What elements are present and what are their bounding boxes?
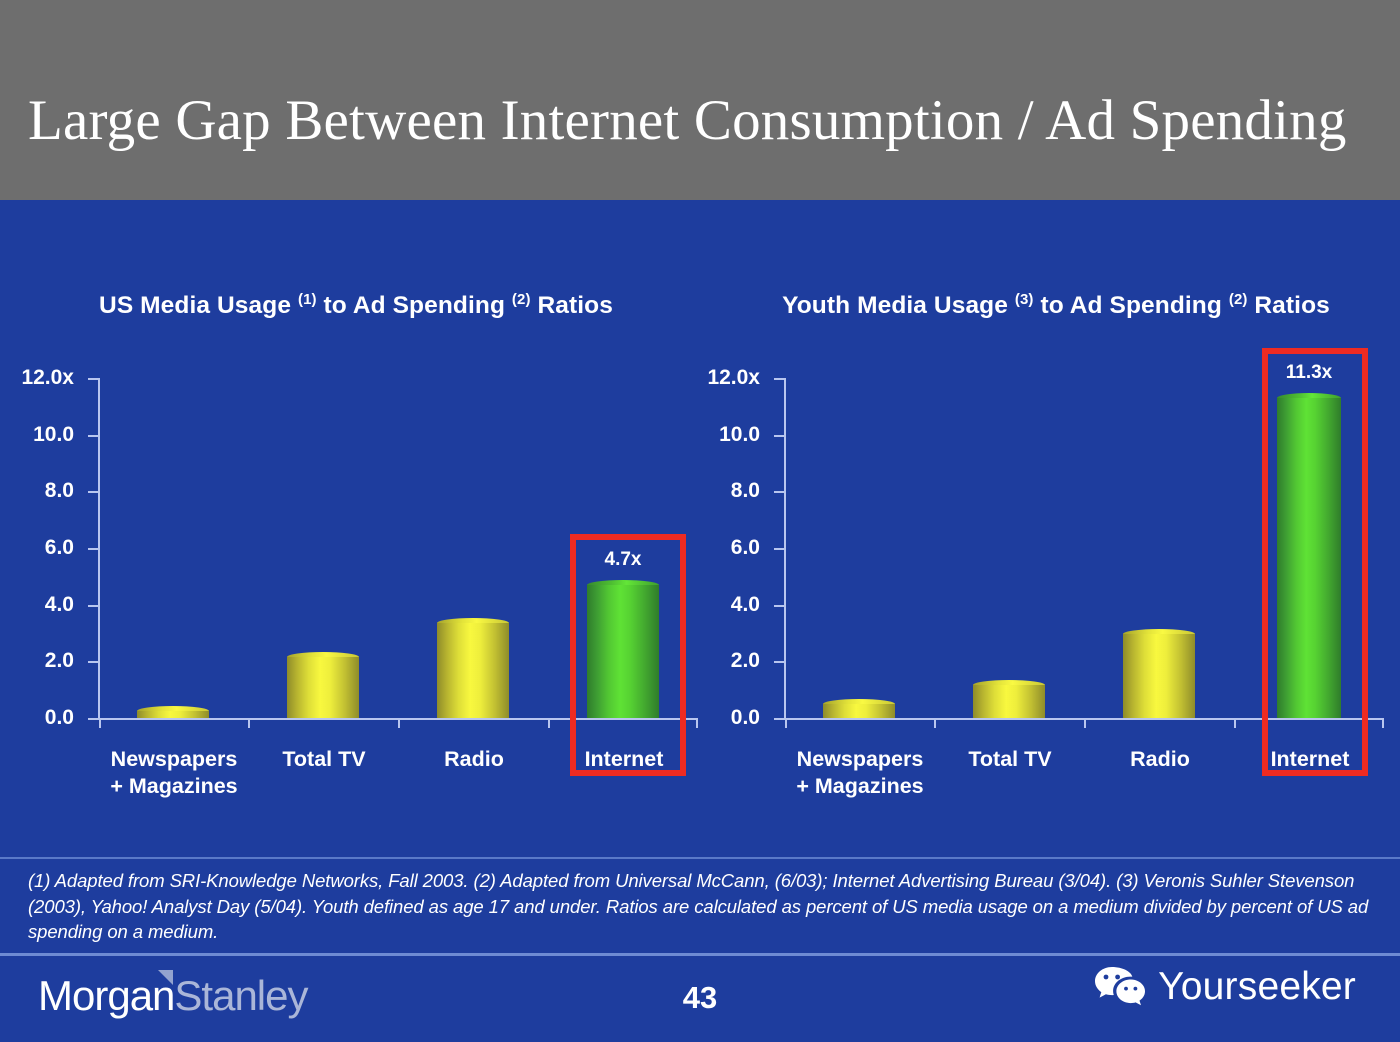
yourseeker-watermark: Yourseeker: [1092, 964, 1356, 1010]
x-axis-category-total-tv: Total TV: [968, 746, 1051, 773]
y-axis-tick: 12.0x: [774, 378, 785, 380]
category-label-line: + Magazines: [110, 773, 237, 800]
y-axis-tick: 2.0: [88, 661, 99, 663]
y-axis-tick: 4.0: [774, 605, 785, 607]
x-axis-tick: [785, 719, 787, 728]
x-axis-tick: [1084, 719, 1086, 728]
y-axis-tick: 8.0: [88, 491, 99, 493]
bar-newspapers-magazines: [823, 704, 895, 718]
x-axis-tick: [248, 719, 250, 728]
bar-body: [287, 657, 359, 718]
watermark-label: Yourseeker: [1158, 965, 1356, 1009]
y-axis-tick-label: 6.0: [731, 536, 760, 560]
bar-body: [137, 711, 209, 718]
y-axis-tick: 0.0: [88, 718, 99, 720]
x-axis-tick: [398, 719, 400, 728]
bar-radio: [1123, 634, 1195, 718]
chart-title-segment-c: Ratios: [531, 292, 613, 319]
y-axis-tick: 4.0: [88, 605, 99, 607]
x-axis-category-newspapers-magazines: Newspapers + Magazines: [110, 746, 237, 800]
chart-title-segment-a: Youth Media Usage: [782, 292, 1015, 319]
y-axis-tick-label: 2.0: [45, 649, 74, 673]
x-axis-tick: [934, 719, 936, 728]
slide-footer: MorganStanley 43 Yourseeker: [0, 956, 1400, 1042]
slide-body: US Media Usage (1) to Ad Spending (2) Ra…: [0, 200, 1400, 1042]
category-label-line: Radio: [444, 746, 504, 773]
bar-body: [1123, 634, 1195, 718]
bar-body: [973, 685, 1045, 718]
y-axis-tick-label: 4.0: [731, 593, 760, 617]
bar-total-tv: [287, 657, 359, 718]
category-label-line: Newspapers: [110, 746, 237, 773]
y-axis-tick-label: 8.0: [731, 479, 760, 503]
footnote-divider-top: [0, 857, 1400, 859]
page-title: Large Gap Between Internet Consumption /…: [28, 88, 1378, 153]
y-axis-tick: 12.0x: [88, 378, 99, 380]
y-axis-tick: 8.0: [774, 491, 785, 493]
highlight-box-internet-us: [570, 534, 686, 776]
category-label-line: Newspapers: [796, 746, 923, 773]
chart-panel-us-media-usage: US Media Usage (1) to Ad Spending (2) Ra…: [0, 200, 712, 820]
y-axis-tick-label: 10.0: [719, 423, 760, 447]
x-axis-category-newspapers-magazines: Newspapers + Magazines: [796, 746, 923, 800]
chart-title-segment-a: US Media Usage: [99, 292, 298, 319]
y-axis-tick-label: 12.0x: [21, 366, 74, 390]
chart-panel-youth-media-usage: Youth Media Usage (3) to Ad Spending (2)…: [712, 200, 1400, 820]
footnote-ref-3: (3): [1015, 291, 1034, 308]
y-axis-tick: 2.0: [774, 661, 785, 663]
bar-body: [437, 623, 509, 718]
y-axis-tick-label: 6.0: [45, 536, 74, 560]
x-axis-tick: [99, 719, 101, 728]
x-axis-tick: [1234, 719, 1236, 728]
chart-title-segment-b: to Ad Spending: [1034, 292, 1229, 319]
y-axis-tick-label: 2.0: [731, 649, 760, 673]
slide-root: Large Gap Between Internet Consumption /…: [0, 0, 1400, 1042]
y-axis-tick-label: 12.0x: [707, 366, 760, 390]
x-axis-tick: [548, 719, 550, 728]
bar-total-tv: [973, 685, 1045, 718]
chart-title-segment-b: to Ad Spending: [317, 292, 512, 319]
x-axis-category-total-tv: Total TV: [282, 746, 365, 773]
category-label-line: Total TV: [282, 746, 365, 773]
y-axis-tick-label: 10.0: [33, 423, 74, 447]
category-label-line: Radio: [1130, 746, 1190, 773]
y-axis-tick: 6.0: [774, 548, 785, 550]
wechat-icon: [1092, 964, 1148, 1010]
bar-radio: [437, 623, 509, 718]
x-axis-category-radio: Radio: [1130, 746, 1190, 773]
y-axis-tick: 10.0: [774, 435, 785, 437]
y-axis-tick: 10.0: [88, 435, 99, 437]
chart-title-segment-c: Ratios: [1247, 292, 1329, 319]
y-axis-tick-label: 8.0: [45, 479, 74, 503]
y-axis-tick-label: 4.0: [45, 593, 74, 617]
y-axis-tick-label: 0.0: [731, 706, 760, 730]
footnote-ref-2: (2): [512, 291, 531, 308]
category-label-line: + Magazines: [796, 773, 923, 800]
footnote-ref-1: (1): [298, 291, 317, 308]
x-axis-tick: [1382, 719, 1384, 728]
x-axis-category-radio: Radio: [444, 746, 504, 773]
highlight-box-internet-youth: [1262, 348, 1368, 776]
chart-title-us-media-usage: US Media Usage (1) to Ad Spending (2) Ra…: [0, 288, 712, 323]
y-axis-tick: 0.0: [774, 718, 785, 720]
category-label-line: Total TV: [968, 746, 1051, 773]
x-axis-tick: [696, 719, 698, 728]
bar-newspapers-magazines: [137, 711, 209, 718]
y-axis-tick-label: 0.0: [45, 706, 74, 730]
footnote-ref-2: (2): [1229, 291, 1248, 308]
bar-body: [823, 704, 895, 718]
y-axis-tick: 6.0: [88, 548, 99, 550]
chart-title-youth-media-usage: Youth Media Usage (3) to Ad Spending (2)…: [712, 288, 1400, 323]
footnote-text: (1) Adapted from SRI-Knowledge Networks,…: [28, 868, 1373, 945]
